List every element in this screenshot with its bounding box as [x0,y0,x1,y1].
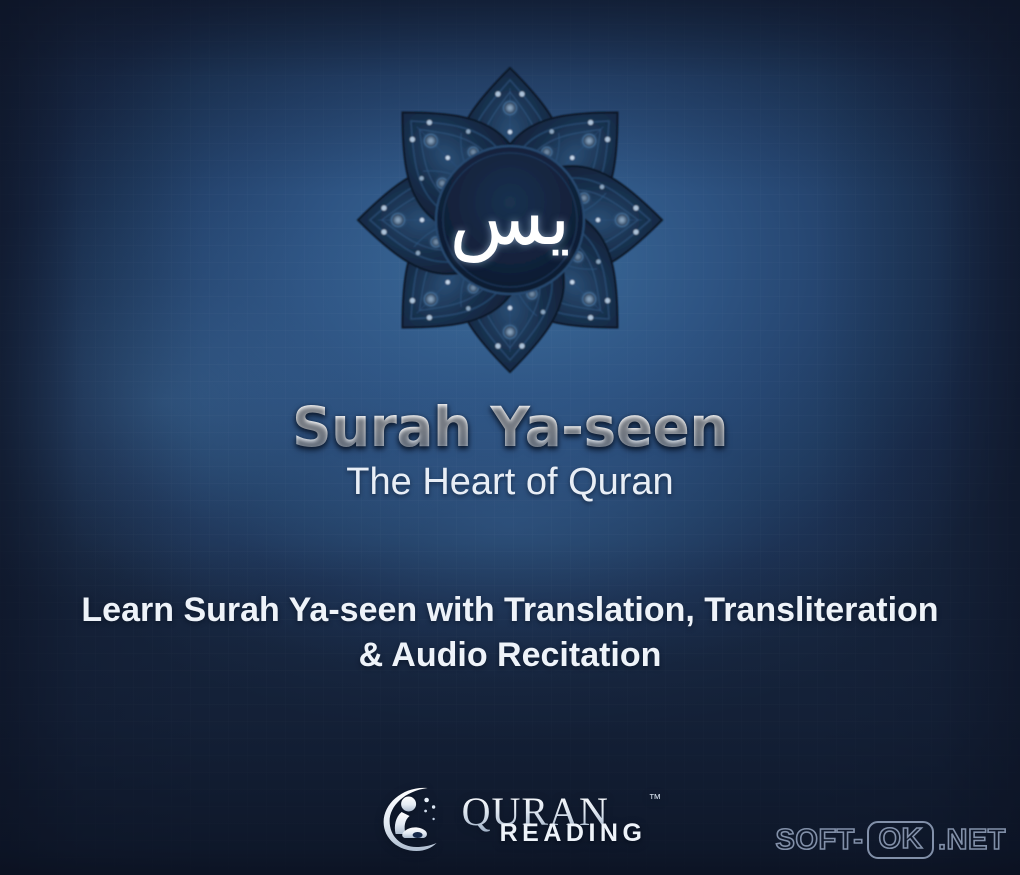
watermark-part-3: .NET [938,824,1006,857]
brand-logo: QURAN READING ™ [374,782,647,854]
tagline-line-1: Learn Surah Ya-seen with Translation, Tr… [0,588,1020,633]
arabic-calligraphy-yaseen: يس [449,173,570,263]
site-watermark: SOFT- OK .NET [776,821,1006,859]
brand-wordmark: QURAN READING ™ [462,790,647,846]
watermark-part-2: OK [867,821,934,859]
brand-name-secondary: READING [500,821,647,846]
splash-screen: يس Surah Ya-seen The Heart of Quran Lear… [0,0,1020,875]
page-title: Surah Ya-seen [0,399,1020,456]
page-subtitle: The Heart of Quran [0,460,1020,505]
crescent-moon-reader-icon [374,782,450,854]
watermark-part-1: SOFT- [776,824,864,857]
trademark-symbol: ™ [648,792,661,805]
star-medallion-ornament: يس [338,52,682,382]
tagline-line-2: & Audio Recitation [0,633,1020,678]
title-block: Surah Ya-seen The Heart of Quran [0,399,1020,505]
tagline-block: Learn Surah Ya-seen with Translation, Tr… [0,588,1020,678]
